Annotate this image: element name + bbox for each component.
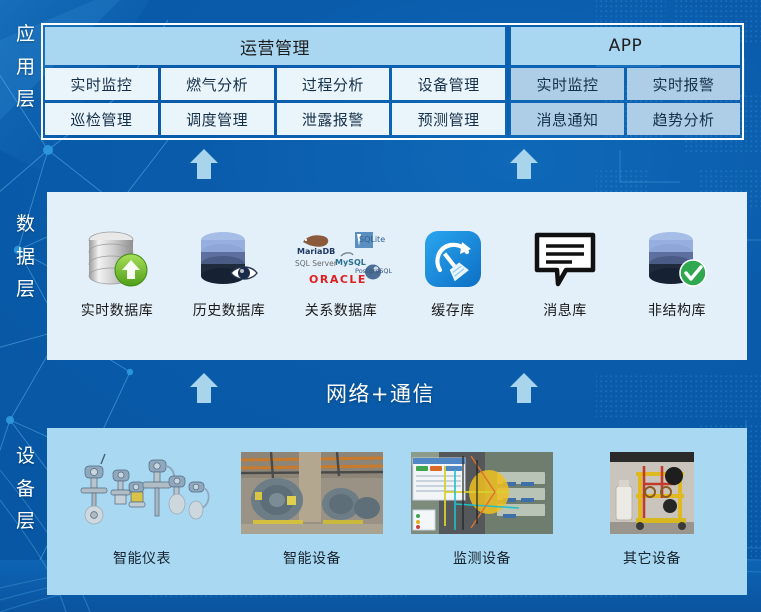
data-item-unstructured[interactable]: 非结构库 (621, 228, 733, 320)
layer-label-char: 设 (16, 440, 36, 473)
app-row-operations-1: 实时监控 燃气分析 过程分析 设备管理 (43, 65, 507, 100)
data-item-label: 关系数据库 (305, 300, 378, 320)
app-row-app-2: 消息通知 趋势分析 (509, 100, 742, 138)
smart-equipment-photo (241, 452, 383, 534)
layer-label-char: 层 (16, 505, 36, 538)
device-item-monitoring-equipment[interactable]: 监测设备 (397, 452, 567, 568)
app-cell-inspection-management[interactable]: 巡检管理 (45, 103, 158, 135)
relational-database-logos: MariaDB SQLite SQL Server MySQL PostgreS… (293, 228, 389, 290)
data-item-label: 历史数据库 (193, 300, 266, 320)
up-arrow-icon (189, 148, 219, 180)
layer-label-device: 设 备 层 (12, 440, 40, 538)
network-communication-band: 网络+通信 (0, 362, 761, 424)
device-item-label: 智能仪表 (113, 548, 171, 568)
data-item-cache[interactable]: 缓存库 (397, 228, 509, 320)
data-item-realtime-database[interactable]: 实时数据库 (61, 228, 173, 320)
layer-label-char: 据 (16, 241, 36, 274)
data-item-label: 非结构库 (648, 300, 706, 320)
layer-label-char: 备 (16, 473, 36, 506)
device-item-other-equipment[interactable]: 其它设备 (567, 452, 737, 568)
app-cell-app-message-notification[interactable]: 消息通知 (511, 103, 624, 135)
app-cell-app-trend-analysis[interactable]: 趋势分析 (627, 103, 740, 135)
other-equipment-photo (610, 452, 694, 534)
layer-label-application: 应 用 层 (12, 18, 40, 116)
unstructured-database-icon (643, 228, 711, 290)
app-cell-app-realtime-monitoring[interactable]: 实时监控 (511, 68, 624, 100)
app-cell-gas-analysis[interactable]: 燃气分析 (161, 68, 274, 100)
logo-text-oracle: ORACLE (309, 274, 367, 285)
app-row-operations-2: 巡检管理 调度管理 泄露报警 预测管理 (43, 100, 507, 138)
data-item-message[interactable]: 消息库 (509, 228, 621, 320)
device-layer-panel: 智能仪表 (47, 428, 747, 595)
logo-text-sqlite: SQLite (359, 236, 385, 244)
smart-instruments-photo (71, 452, 213, 534)
data-item-label: 实时数据库 (81, 300, 154, 320)
layer-label-char: 用 (16, 51, 36, 84)
app-cell-equipment-management[interactable]: 设备管理 (392, 68, 505, 100)
data-layer-items: 实时数据库 (47, 192, 747, 360)
app-cell-dispatch-management[interactable]: 调度管理 (161, 103, 274, 135)
app-cell-process-analysis[interactable]: 过程分析 (277, 68, 390, 100)
history-database-icon (195, 228, 263, 290)
network-communication-title: 网络+通信 (326, 378, 435, 408)
data-item-label: 缓存库 (431, 300, 475, 320)
device-item-label: 其它设备 (623, 548, 681, 568)
application-layer-frame: 运营管理 实时监控 燃气分析 过程分析 设备管理 巡检管理 调度管理 泄露报警 … (41, 23, 744, 140)
realtime-database-icon (83, 228, 151, 290)
layer-label-char: 应 (16, 18, 36, 51)
monitoring-equipment-screenshot (411, 452, 553, 534)
app-cell-realtime-monitoring[interactable]: 实时监控 (45, 68, 158, 100)
logo-text-mysql: MySQL (335, 259, 366, 267)
logo-text-sqlserver: SQL Server (295, 260, 337, 268)
data-layer-panel: 实时数据库 (47, 192, 747, 360)
message-bubble-icon (532, 228, 598, 290)
device-item-smart-instruments[interactable]: 智能仪表 (57, 452, 227, 568)
layer-label-char: 层 (16, 83, 36, 116)
device-item-smart-equipment[interactable]: 智能设备 (227, 452, 397, 568)
device-item-label: 智能设备 (283, 548, 341, 568)
data-item-label: 消息库 (543, 300, 587, 320)
app-cell-leak-alarm[interactable]: 泄露报警 (277, 103, 390, 135)
cache-broom-icon (424, 228, 482, 290)
layer-label-data: 数 据 层 (12, 208, 40, 306)
up-arrow-icon (509, 148, 539, 180)
device-item-label: 监测设备 (453, 548, 511, 568)
app-group-title-operations: 运营管理 (45, 27, 505, 65)
app-cell-prediction-management[interactable]: 预测管理 (392, 103, 505, 135)
diagram-canvas: 应 用 层 数 据 层 设 备 层 运营管理 实时监控 燃气分析 过程分析 设备… (0, 0, 761, 612)
app-group-title-app: APP (511, 27, 740, 65)
app-row-app-1: 实时监控 实时报警 (509, 65, 742, 100)
app-cell-app-realtime-alarm[interactable]: 实时报警 (627, 68, 740, 100)
data-item-history-database[interactable]: 历史数据库 (173, 228, 285, 320)
layer-label-char: 数 (16, 208, 36, 241)
data-item-relational-database[interactable]: MariaDB SQLite SQL Server MySQL PostgreS… (285, 228, 397, 320)
layer-label-char: 层 (16, 273, 36, 306)
logo-text-mariadb: MariaDB (297, 248, 335, 256)
app-group-operations: 运营管理 实时监控 燃气分析 过程分析 设备管理 巡检管理 调度管理 泄露报警 … (43, 25, 509, 138)
device-layer-items: 智能仪表 (47, 428, 747, 595)
app-group-app: APP 实时监控 实时报警 消息通知 趋势分析 (509, 25, 742, 138)
